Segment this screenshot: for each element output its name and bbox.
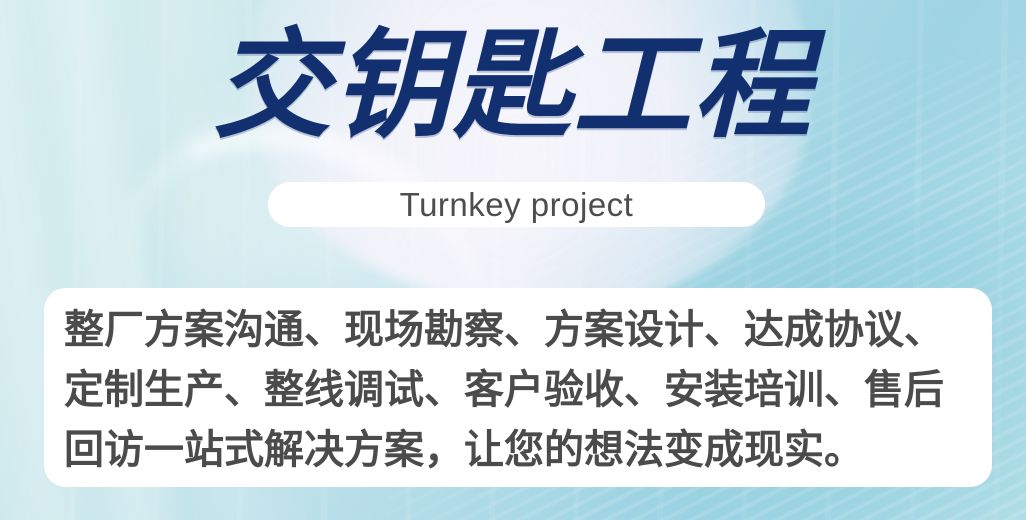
page-title: 交钥匙工程	[0, 16, 1026, 156]
description-line-3: 回访一站式解决方案，让您的想法变成现实。	[64, 420, 972, 480]
description-line-1: 整厂方案沟通、现场勘察、方案设计、达成协议、	[64, 300, 972, 360]
turnkey-project-banner: 交钥匙工程 Turnkey project 整厂方案沟通、现场勘察、方案设计、达…	[0, 0, 1026, 520]
subtitle-label: Turnkey project	[400, 188, 634, 222]
subtitle-pill: Turnkey project	[268, 182, 765, 227]
description-card: 整厂方案沟通、现场勘察、方案设计、达成协议、 定制生产、整线调试、客户验收、安装…	[44, 288, 992, 487]
banner-content: 交钥匙工程 Turnkey project 整厂方案沟通、现场勘察、方案设计、达…	[0, 0, 1026, 520]
description-line-2: 定制生产、整线调试、客户验收、安装培训、售后	[64, 360, 972, 420]
